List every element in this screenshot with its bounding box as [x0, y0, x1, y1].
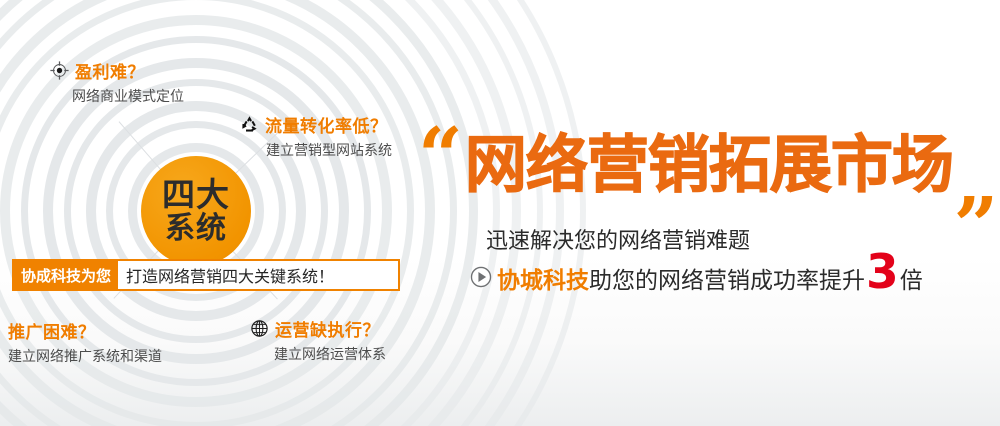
banner-brand: 协成科技为您	[14, 261, 118, 289]
crosshair-target-icon	[50, 61, 69, 80]
core-circle: 四大 系统	[141, 156, 251, 266]
recycle-icon	[240, 115, 259, 134]
page-title: 网络营销拓展市场	[465, 128, 953, 202]
hero-multiplier-number: 3	[866, 258, 899, 288]
globe-icon	[250, 319, 269, 338]
core-line-1: 四大	[162, 178, 230, 212]
hero-sub2-mid: 助您的网络营销成功率提升	[589, 261, 865, 295]
hero-multiplier-unit: 倍	[900, 261, 923, 295]
node-conversion[interactable]: 流量转化率低？ 建立营销型网站系统	[240, 112, 392, 160]
node-title: 推广困难？	[8, 318, 96, 343]
play-circle-icon[interactable]	[470, 266, 492, 288]
node-title: 流量转化率低？	[265, 112, 388, 137]
node-subtitle: 建立网络推广系统和渠道	[8, 346, 162, 366]
node-subtitle: 建立营销型网站系统	[266, 140, 392, 160]
node-operation[interactable]: 运营缺执行？ 建立网络运营体系	[250, 316, 386, 364]
quote-open-mark: “	[418, 128, 463, 186]
node-profit[interactable]: 盈利难？ 网络商业模式定位	[50, 58, 184, 106]
highlight-banner: 协成科技为您 打造网络营销四大关键系统！	[12, 259, 400, 291]
node-title: 运营缺执行？	[275, 316, 380, 341]
quote-close-mark: „	[955, 162, 1000, 202]
hero-subline-2: 协城科技 助您的网络营销成功率提升 3 倍	[470, 258, 1000, 295]
node-subtitle: 建立网络运营体系	[274, 344, 386, 364]
promo-banner: 四大 系统 盈利难？ 网络商业模式定位	[0, 0, 1000, 426]
node-promotion[interactable]: 推广困难？ 建立网络推广系统和渠道	[8, 318, 162, 366]
hero-subline-1: 迅速解决您的网络营销难题	[486, 228, 1000, 256]
hero-brand: 协城科技	[497, 261, 589, 295]
node-title: 盈利难？	[75, 58, 145, 83]
core-line-2: 系统	[165, 212, 227, 245]
hero-subtext-block: 迅速解决您的网络营销难题 协城科技 助您的网络营销成功率提升 3 倍	[470, 228, 1000, 295]
node-subtitle: 网络商业模式定位	[72, 86, 184, 106]
banner-message: 打造网络营销四大关键系统！	[118, 261, 342, 289]
hero-headline-block: “ 网络营销拓展市场 „	[418, 128, 1000, 202]
